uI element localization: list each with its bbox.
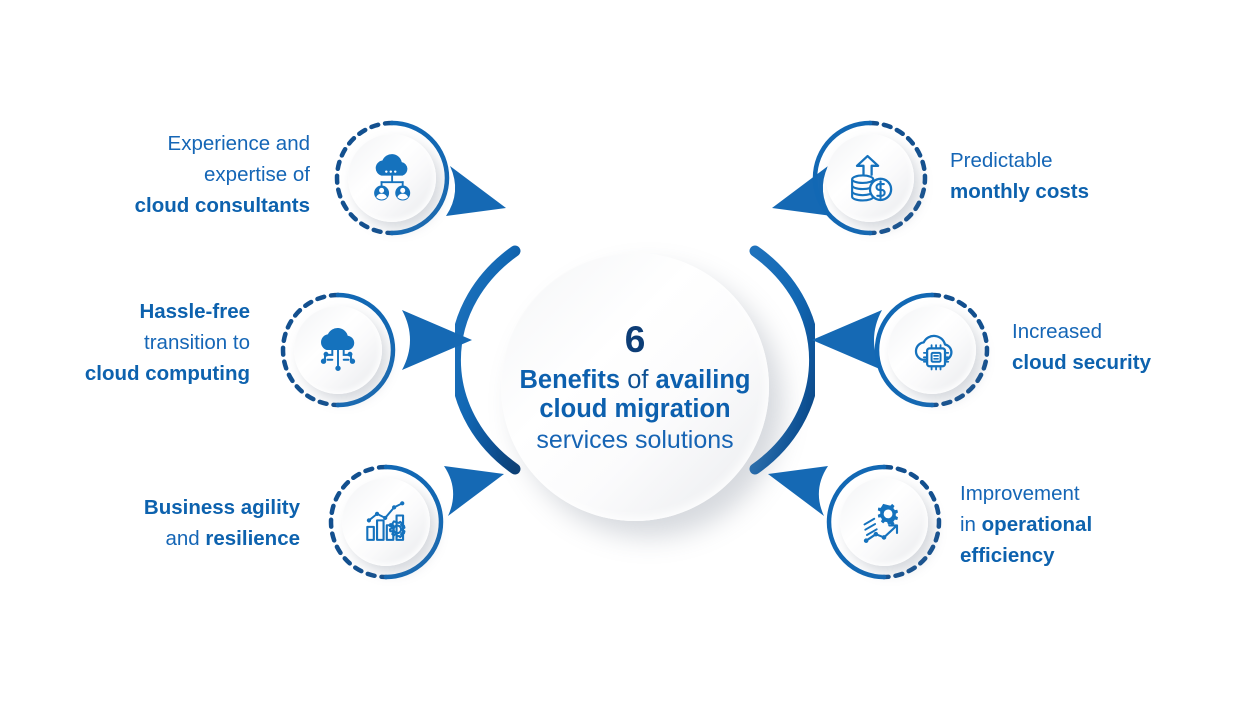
label-line-1: Hassle-free xyxy=(10,296,250,327)
badge-business-agility[interactable] xyxy=(334,470,438,574)
badge-monthly-costs[interactable] xyxy=(818,126,922,230)
label-word-and: and xyxy=(166,527,206,550)
gear-growth-arrow-icon xyxy=(840,478,928,566)
label-cloud-security: Increased cloud security xyxy=(1012,316,1234,378)
label-operational-efficiency: Improvement in operational efficiency xyxy=(960,478,1210,571)
label-line-2: and resilience xyxy=(40,523,300,554)
label-word-operational: operational xyxy=(982,513,1093,536)
label-line-3: efficiency xyxy=(960,540,1210,571)
badge-cloud-security[interactable] xyxy=(880,298,984,402)
hub-headline-line-2: cloud migration xyxy=(539,395,730,425)
cloud-team-icon xyxy=(348,134,436,222)
hub-headline-line-3: services solutions xyxy=(536,426,733,455)
benefit-count: 6 xyxy=(625,319,646,362)
label-business-agility: Business agility and resilience xyxy=(40,492,300,554)
label-monthly-costs: Predictable monthly costs xyxy=(950,145,1200,207)
label-line-1: Business agility xyxy=(40,492,300,523)
hub-headline-line-1: Benefits of availing xyxy=(520,366,751,396)
label-cloud-consultants: Experience and expertise of cloud consul… xyxy=(60,128,310,221)
badge-cloud-consultants[interactable] xyxy=(340,126,444,230)
label-line-3: cloud computing xyxy=(10,358,250,389)
label-line-1: Increased xyxy=(1012,316,1234,347)
badge-operational-efficiency[interactable] xyxy=(832,470,936,574)
hub-text-block: 6 Benefits of availing cloud migration s… xyxy=(501,253,769,521)
infographic-canvas: 6 Benefits of availing cloud migration s… xyxy=(0,0,1234,705)
label-line-1: Predictable xyxy=(950,145,1200,176)
hub-word-of: of xyxy=(620,366,655,394)
coins-growth-dollar-icon xyxy=(826,134,914,222)
hub-word-benefits: Benefits xyxy=(520,366,621,394)
arrow-bottom-left-to-center xyxy=(434,452,520,524)
label-line-2: in operational xyxy=(960,509,1210,540)
label-line-1: Improvement xyxy=(960,478,1210,509)
label-line-2: monthly costs xyxy=(950,176,1200,207)
cloud-circuit-icon xyxy=(294,306,382,394)
label-line-2: transition to xyxy=(10,327,250,358)
hub-word-availing: availing xyxy=(656,366,751,394)
label-line-1: Experience and xyxy=(60,128,310,159)
label-line-3: cloud consultants xyxy=(60,190,310,221)
label-word-resilience: resilience xyxy=(205,527,300,550)
label-line-2: expertise of xyxy=(60,159,310,190)
label-cloud-computing: Hassle-free transition to cloud computin… xyxy=(10,296,250,389)
arrow-middle-left-to-center xyxy=(398,304,484,376)
label-word-in: in xyxy=(960,513,982,536)
cloud-chip-icon xyxy=(888,306,976,394)
bar-chart-gear-icon xyxy=(342,478,430,566)
label-line-2: cloud security xyxy=(1012,347,1234,378)
badge-cloud-computing[interactable] xyxy=(286,298,390,402)
